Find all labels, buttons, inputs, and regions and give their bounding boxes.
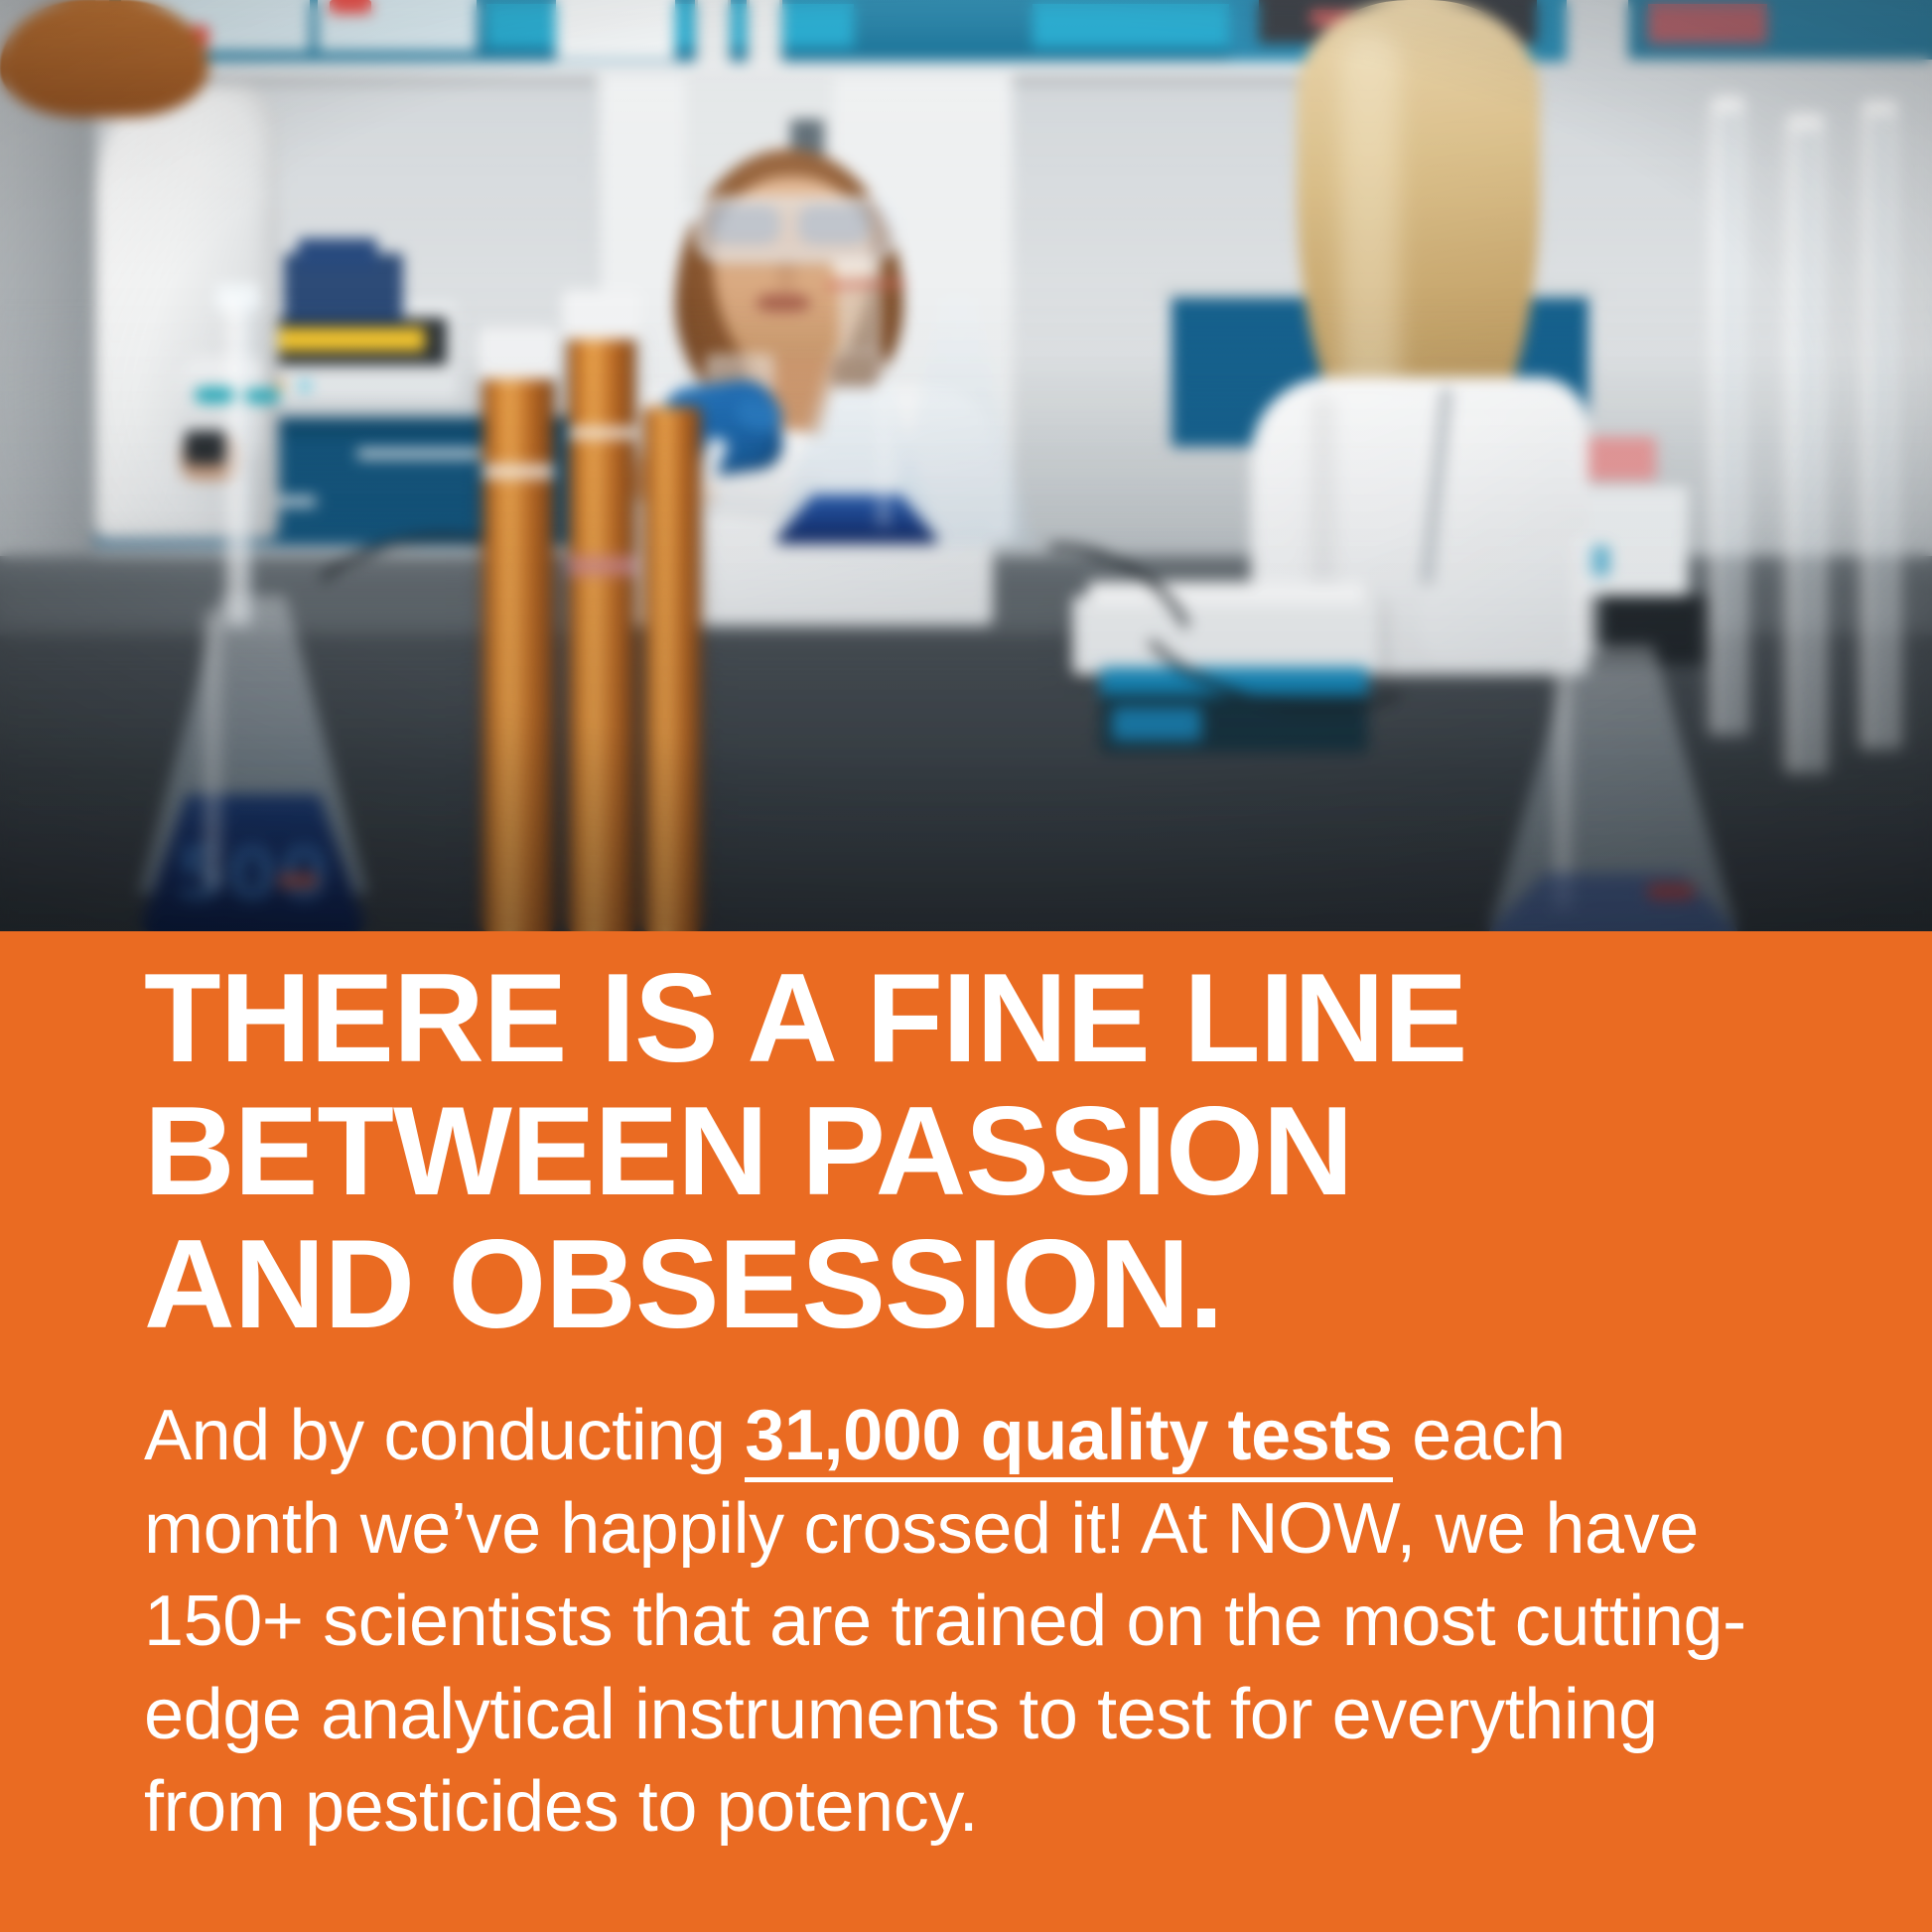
orange-copy-panel: THERE IS A FINE LINE BETWEEN PASSION AND… (0, 931, 1932, 1932)
body-lead: And by conducting (144, 1396, 745, 1475)
copy-container: THERE IS A FINE LINE BETWEEN PASSION AND… (144, 951, 1812, 1855)
body-copy: And by conducting 31,000 quality tests e… (144, 1390, 1772, 1855)
promo-card: 500 THERE IS A FINE LINE BETWEEN PASSION… (0, 0, 1932, 1932)
lab-photo: 500 (0, 0, 1932, 931)
page-title: THERE IS A FINE LINE BETWEEN PASSION AND… (144, 951, 1812, 1350)
photo-vignette (0, 0, 1932, 931)
quality-tests-highlight: 31,000 quality tests (745, 1396, 1392, 1482)
